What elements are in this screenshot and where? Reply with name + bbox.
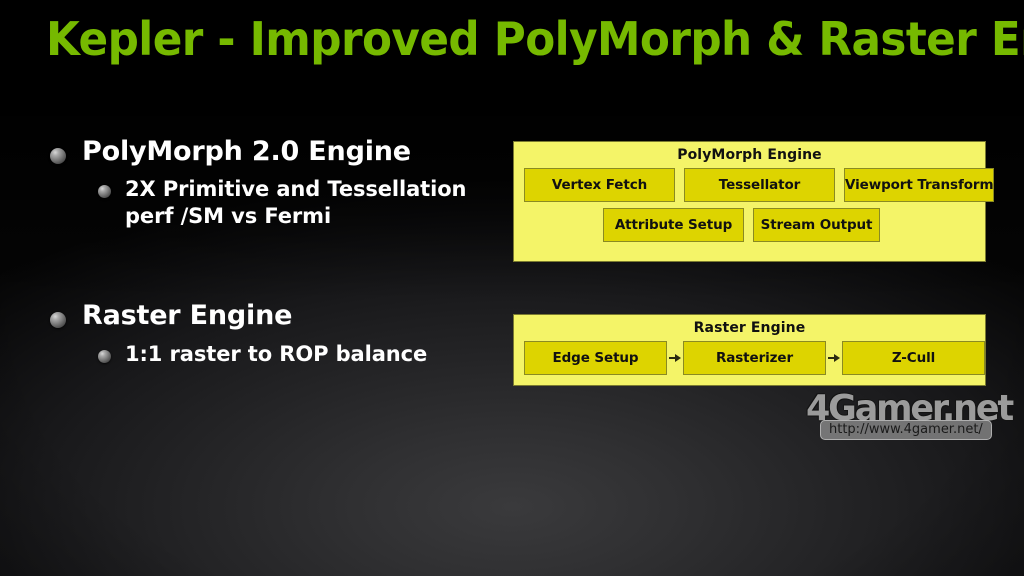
bullet-item-level1: PolyMorph 2.0 Engine bbox=[50, 136, 500, 168]
diagram-row: Vertex Fetch Tessellator Viewport Transf… bbox=[514, 168, 985, 202]
bullet-item-level2: 1:1 raster to ROP balance bbox=[98, 341, 500, 368]
diagram-title: Raster Engine bbox=[514, 315, 985, 336]
bullet-group-polymorph: PolyMorph 2.0 Engine 2X Primitive and Te… bbox=[50, 136, 500, 230]
diagram-polymorph-engine: PolyMorph Engine Vertex Fetch Tessellato… bbox=[513, 141, 986, 262]
node-edge-setup: Edge Setup bbox=[524, 341, 667, 375]
node-vertex-fetch: Vertex Fetch bbox=[524, 168, 675, 202]
bullet-sphere-icon bbox=[98, 185, 111, 198]
diagram-row: Edge Setup Rasterizer Z-Cull bbox=[514, 341, 985, 375]
bullet-list: PolyMorph 2.0 Engine 2X Primitive and Te… bbox=[50, 130, 500, 367]
bullet-item-level2: 2X Primitive and Tessellation perf /SM v… bbox=[98, 176, 500, 230]
node-attribute-setup: Attribute Setup bbox=[603, 208, 744, 242]
bullet-item-level1: Raster Engine bbox=[50, 300, 500, 332]
bullet-level2-label: 2X Primitive and Tessellation perf /SM v… bbox=[125, 176, 475, 230]
arrow-right-icon bbox=[667, 341, 683, 375]
bullet-sphere-icon bbox=[50, 148, 66, 164]
node-z-cull: Z-Cull bbox=[842, 341, 985, 375]
slide-title: Kepler - Improved PolyMorph & Raster Eng… bbox=[46, 14, 949, 66]
bullet-level1-label: Raster Engine bbox=[82, 300, 292, 332]
diagram-row: Attribute Setup Stream Output bbox=[514, 208, 985, 242]
diagram-raster-engine: Raster Engine Edge Setup Rasterizer Z-Cu… bbox=[513, 314, 986, 386]
bullet-sphere-icon bbox=[98, 350, 111, 363]
arrow-right-icon bbox=[826, 341, 842, 375]
bullet-sphere-icon bbox=[50, 312, 66, 328]
node-stream-output: Stream Output bbox=[753, 208, 880, 242]
slide: Kepler - Improved PolyMorph & Raster Eng… bbox=[0, 0, 1024, 576]
bullet-level1-label: PolyMorph 2.0 Engine bbox=[82, 136, 411, 168]
node-tessellator: Tessellator bbox=[684, 168, 835, 202]
node-viewport-transform: Viewport Transform bbox=[844, 168, 994, 202]
node-rasterizer: Rasterizer bbox=[683, 341, 826, 375]
bullet-level2-label: 1:1 raster to ROP balance bbox=[125, 341, 427, 368]
bullet-group-raster: Raster Engine 1:1 raster to ROP balance bbox=[50, 300, 500, 367]
diagram-title: PolyMorph Engine bbox=[514, 142, 985, 163]
